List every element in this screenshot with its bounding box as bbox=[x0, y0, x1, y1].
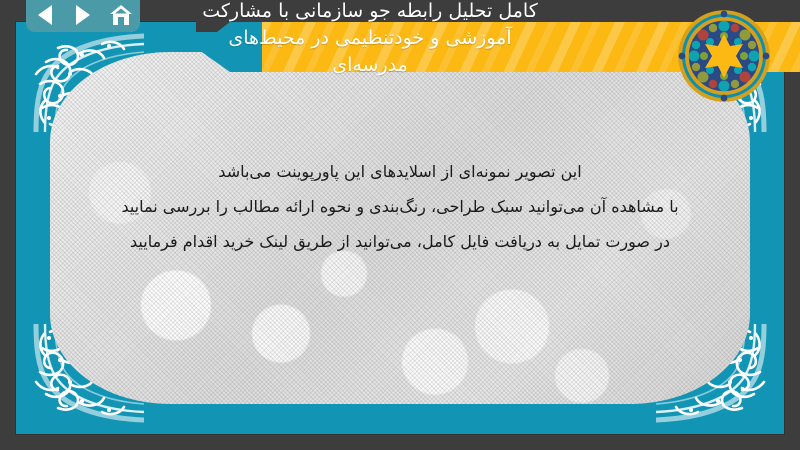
triangle-left-icon bbox=[38, 5, 52, 25]
body-line: در صورت تمایل به دریافت فایل کامل، می‌تو… bbox=[60, 224, 740, 259]
triangle-right-icon bbox=[76, 5, 90, 25]
slide-body-text: این تصویر نمونه‌ای از اسلایدهای این پاور… bbox=[60, 154, 740, 259]
body-line: این تصویر نمونه‌ای از اسلایدهای این پاور… bbox=[60, 154, 740, 189]
slide-navigation-bar bbox=[26, 0, 140, 32]
home-button[interactable] bbox=[107, 2, 135, 28]
previous-slide-button[interactable] bbox=[31, 2, 59, 28]
next-slide-button[interactable] bbox=[69, 2, 97, 28]
body-line: با مشاهده آن می‌توانید سبک طراحی، رنگ‌بن… bbox=[60, 189, 740, 224]
presentation-viewer: این تصویر نمونه‌ای از اسلایدهای این پاور… bbox=[0, 0, 800, 450]
slide-canvas: این تصویر نمونه‌ای از اسلایدهای این پاور… bbox=[16, 22, 784, 434]
islamic-medallion-ornament-icon bbox=[676, 8, 772, 104]
home-icon bbox=[109, 4, 133, 26]
